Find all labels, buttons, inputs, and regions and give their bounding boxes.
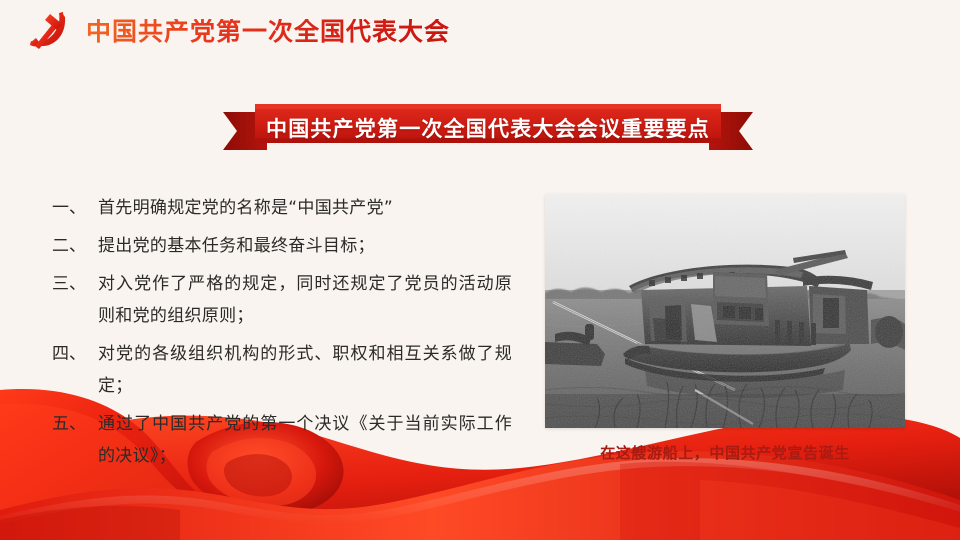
section-banner: 中国共产党第一次全国代表大会会议重要要点 [223,94,753,150]
list-item-marker: 二、 [52,230,98,262]
hammer-and-sickle-icon [22,8,72,54]
list-item: 四、 对党的各级组织机构的形式、职权和相互关系做了规定； [52,338,512,402]
list-item-text: 对入党作了严格的规定，同时还规定了党员的活动原则和党的组织原则； [98,268,512,332]
list-item-text: 首先明确规定党的名称是“中国共产党” [98,192,512,224]
list-item-marker: 四、 [52,338,98,370]
photo-block: 在这艘游船上，中国共产党宣告诞生 [545,194,905,463]
list-item: 二、 提出党的基本任务和最终奋斗目标； [52,230,512,262]
page-title: 中国共产党第一次全国代表大会 [86,19,450,44]
list-item-marker: 五、 [52,408,98,440]
list-item-marker: 一、 [52,192,98,224]
section-banner-title: 中国共产党第一次全国代表大会会议重要要点 [223,94,753,150]
list-item: 三、 对入党作了严格的规定，同时还规定了党员的活动原则和党的组织原则； [52,268,512,332]
list-item-text: 对党的各级组织机构的形式、职权和相互关系做了规定； [98,338,512,402]
historic-boat-photo [545,194,905,428]
photo-caption: 在这艘游船上，中国共产党宣告诞生 [545,442,905,463]
list-item: 五、 通过了中国共产党的第一个决议《关于当前实际工作的决议》； [52,408,512,472]
slide-root: 中国共产党第一次全国代表大会 [0,0,960,540]
list-item-marker: 三、 [52,268,98,300]
list-item-text: 通过了中国共产党的第一个决议《关于当前实际工作的决议》； [98,408,512,472]
key-points-list: 一、 首先明确规定党的名称是“中国共产党” 二、 提出党的基本任务和最终奋斗目标… [52,192,512,478]
slide-header: 中国共产党第一次全国代表大会 [0,0,960,62]
list-item-text: 提出党的基本任务和最终奋斗目标； [98,230,512,262]
list-item: 一、 首先明确规定党的名称是“中国共产党” [52,192,512,224]
